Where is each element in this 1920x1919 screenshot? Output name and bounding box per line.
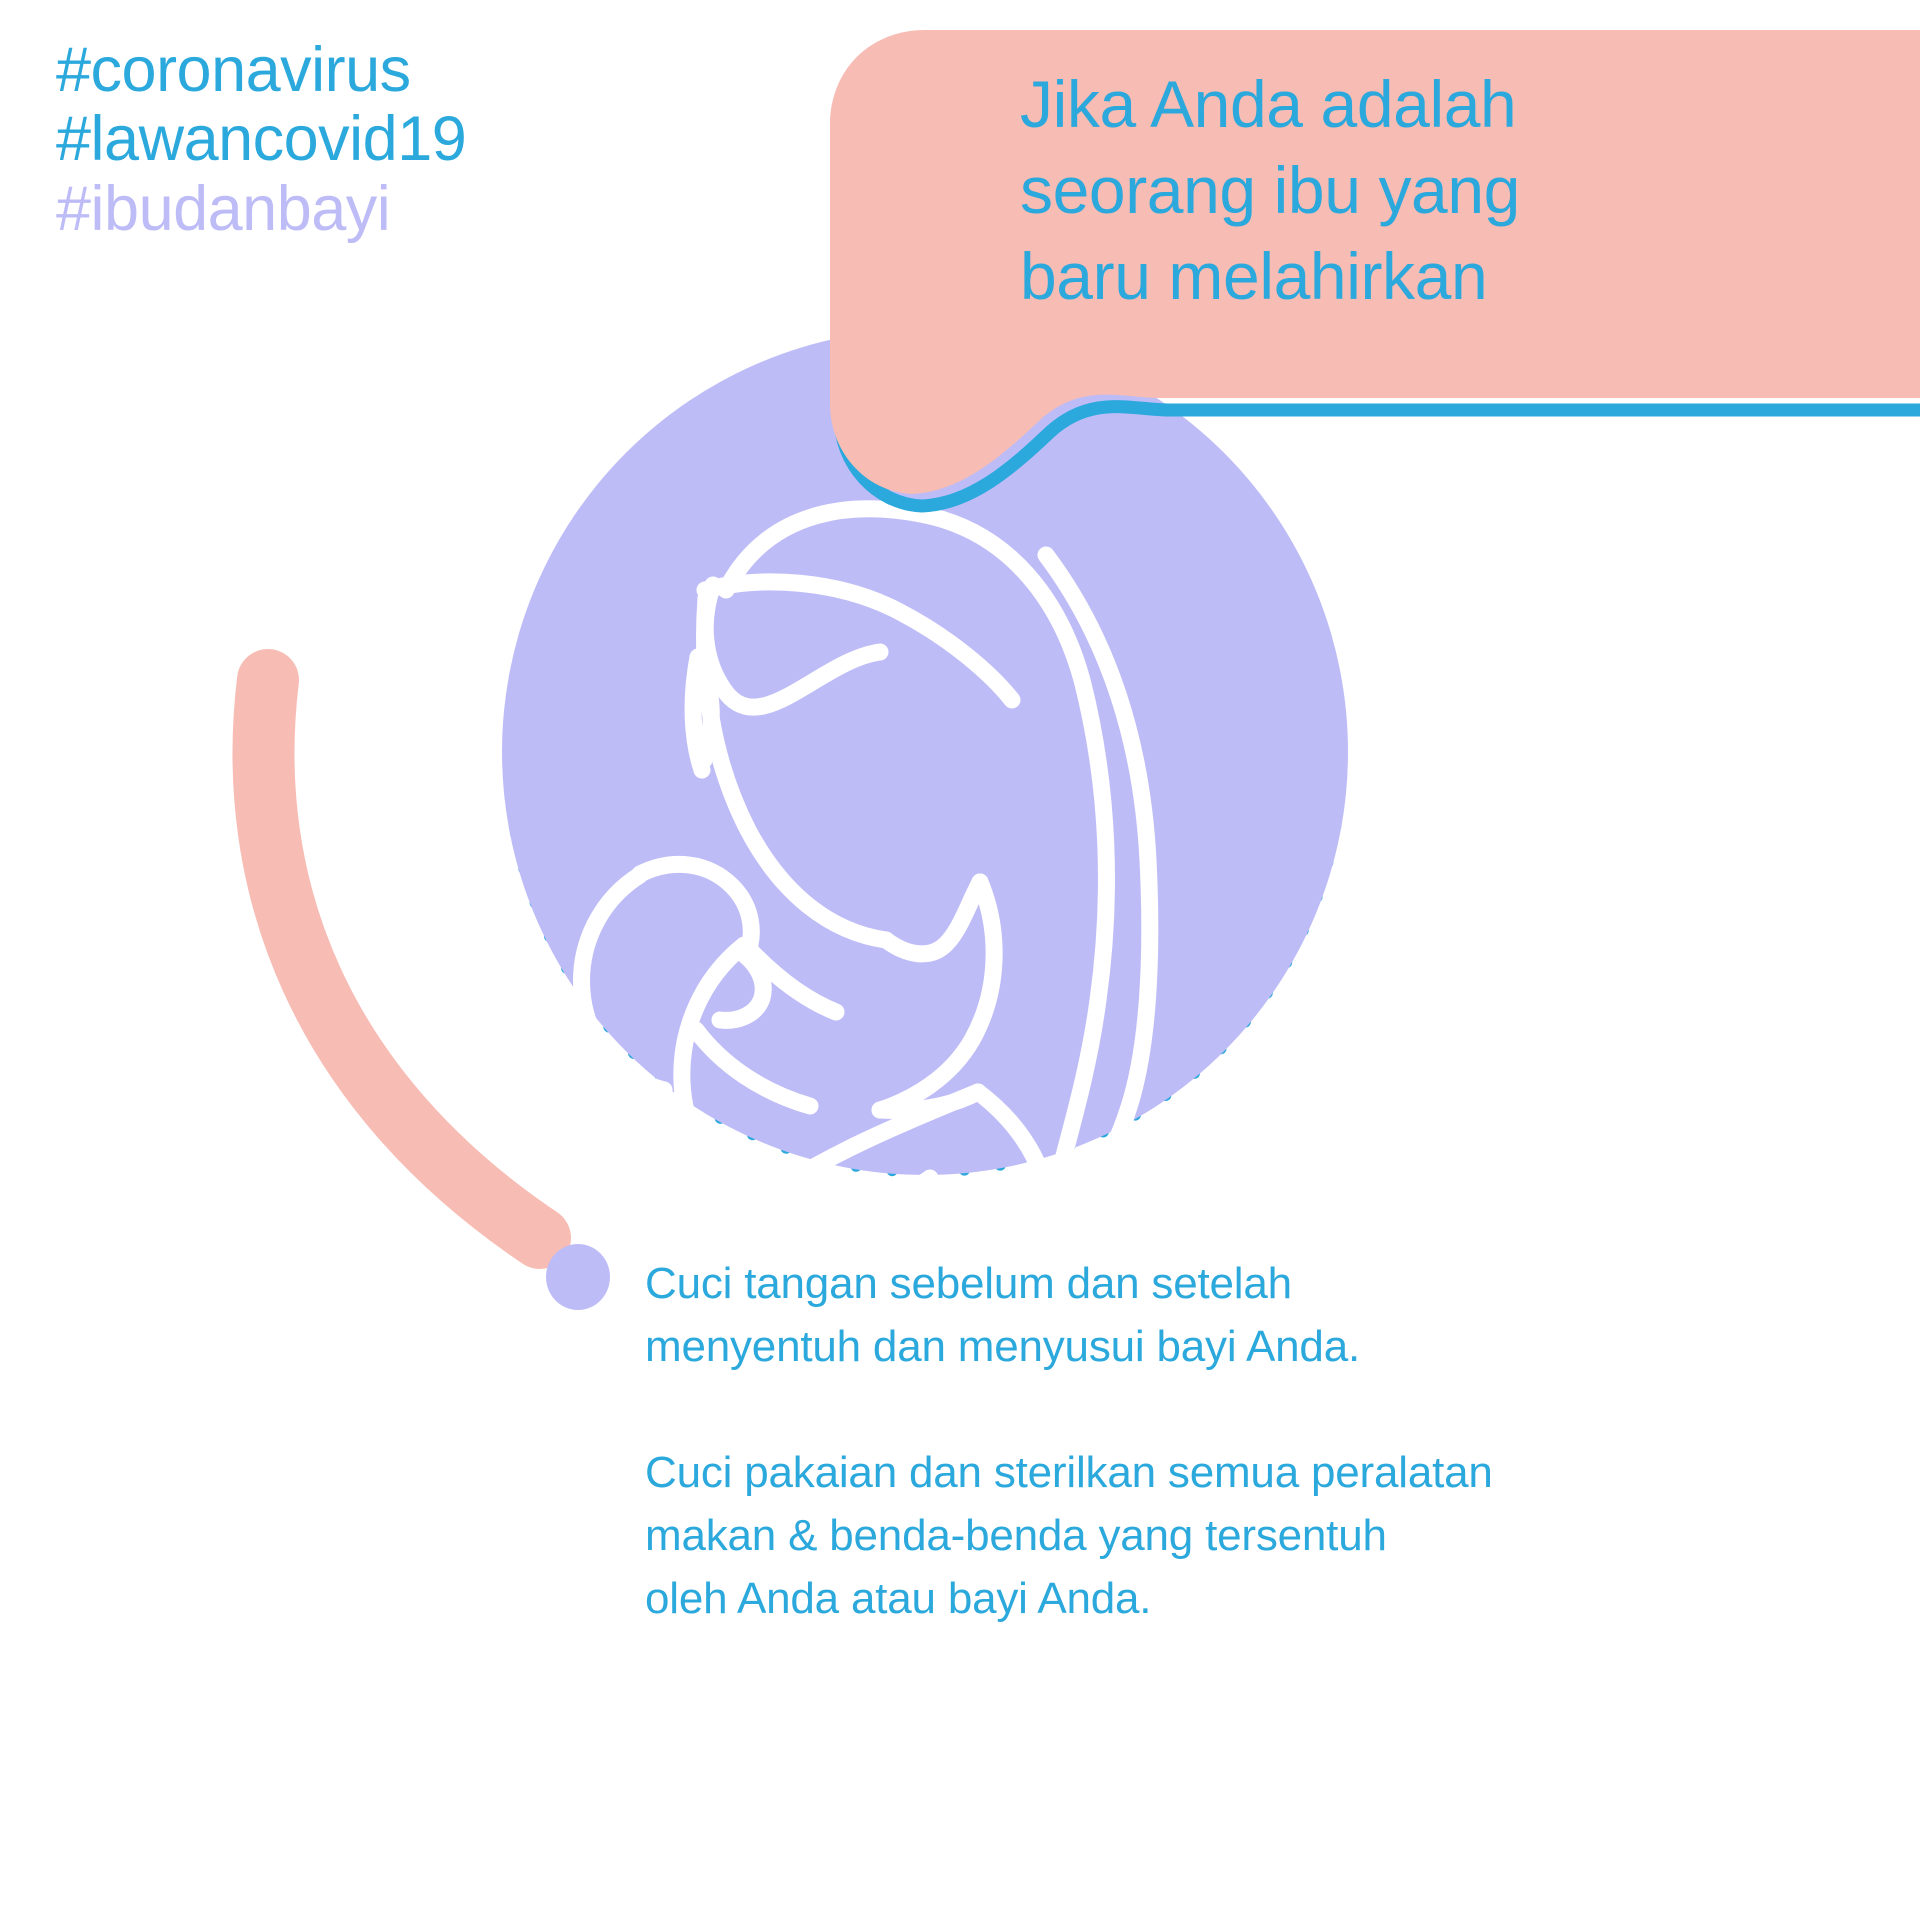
- bubble-line-3: baru melahirkan: [1020, 234, 1920, 320]
- speech-bubble: Jika Anda adalah seorang ibu yang baru m…: [0, 0, 1920, 1919]
- tip2-line-2: makan & benda-benda yang tersentuh: [645, 1504, 1695, 1567]
- body-copy: Cuci tangan sebelum dan setelah menyentu…: [645, 1252, 1695, 1631]
- bubble-line-1: Jika Anda adalah: [1020, 62, 1920, 148]
- tip1-line-2: menyentuh dan menyusui bayi Anda.: [645, 1315, 1695, 1378]
- tip2-line-3: oleh Anda atau bayi Anda.: [645, 1567, 1695, 1630]
- bubble-line-2: seorang ibu yang: [1020, 148, 1920, 234]
- tip-paragraph-2: Cuci pakaian dan sterilkan semua peralat…: [645, 1441, 1695, 1631]
- tip1-line-1: Cuci tangan sebelum dan setelah: [645, 1252, 1695, 1315]
- speech-bubble-text: Jika Anda adalah seorang ibu yang baru m…: [1020, 62, 1920, 319]
- tip2-line-1: Cuci pakaian dan sterilkan semua peralat…: [645, 1441, 1695, 1504]
- tip-paragraph-1: Cuci tangan sebelum dan setelah menyentu…: [645, 1252, 1695, 1379]
- poster-root: #coronavirus #lawancovid19 #ibudanbayi: [0, 0, 1920, 1919]
